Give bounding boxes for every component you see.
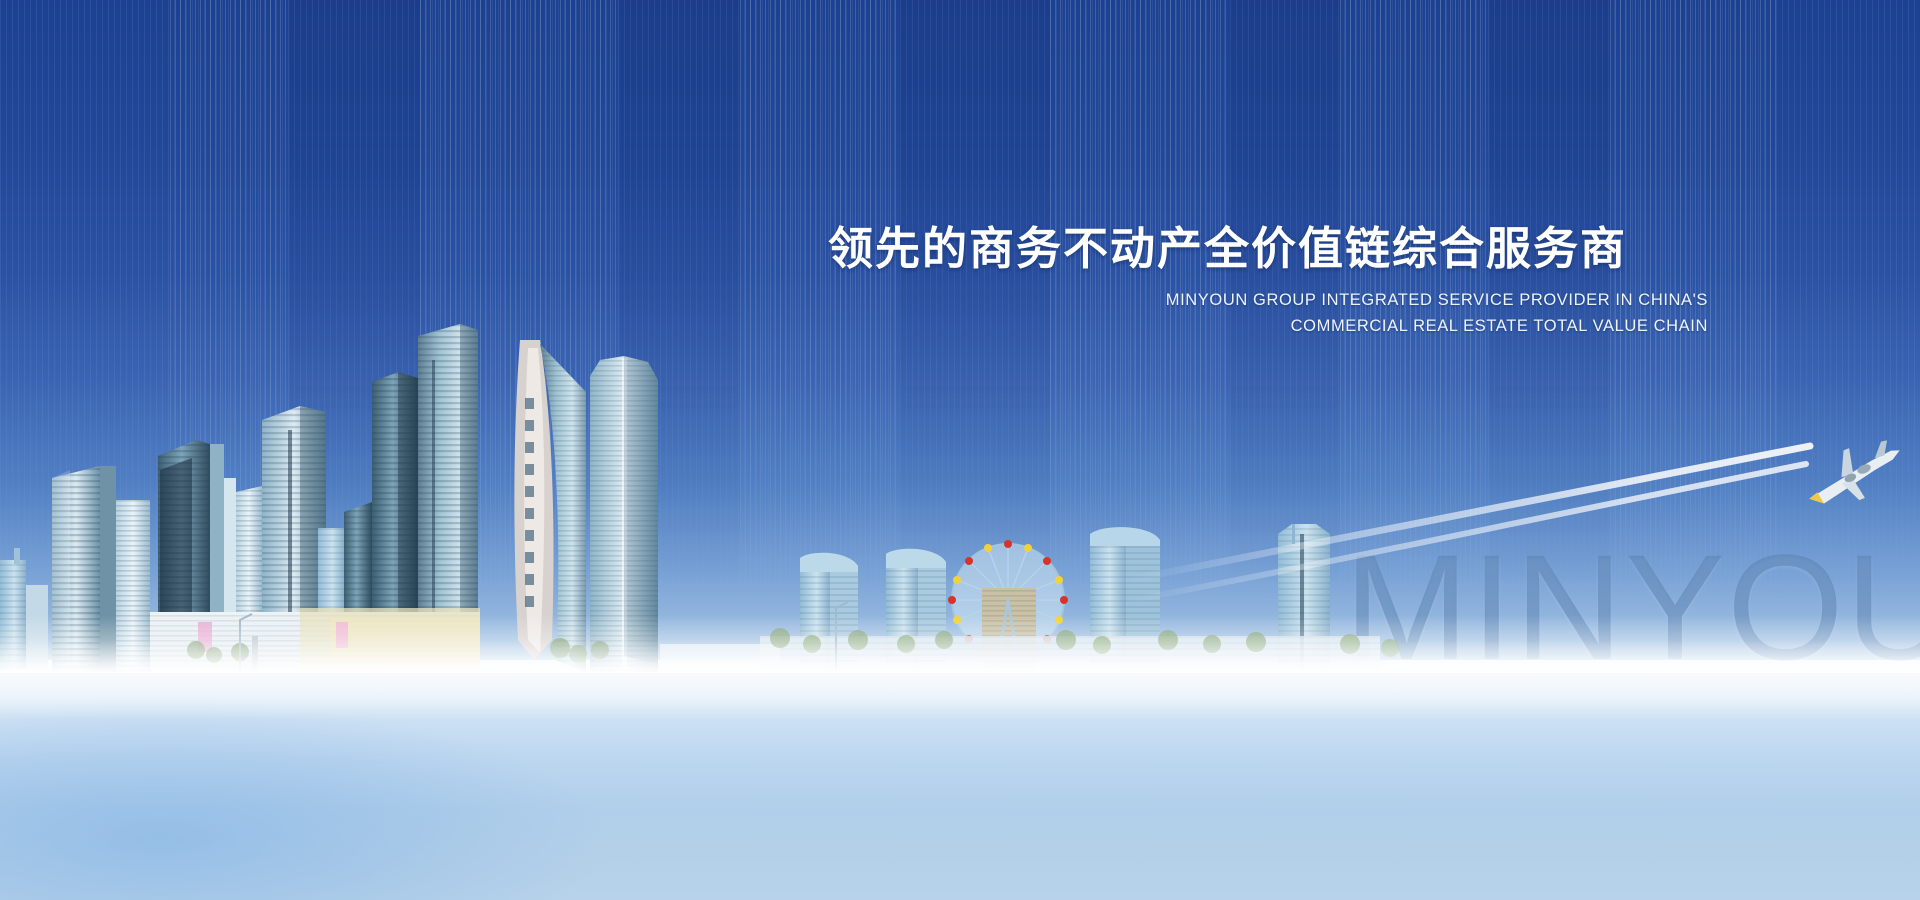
banner-hero: MINYOUN (0, 0, 1920, 900)
page-title: 领先的商务不动产全价值链综合服务商 (828, 212, 1708, 277)
subtitle-line-2: COMMERCIAL REAL ESTATE TOTAL VALUE CHAIN (828, 313, 1708, 339)
contrail (1120, 430, 1860, 630)
subtitle-line-1: MINYOUN GROUP INTEGRATED SERVICE PROVIDE… (828, 287, 1708, 313)
page-subtitle: MINYOUN GROUP INTEGRATED SERVICE PROVIDE… (828, 287, 1708, 339)
horizon-haze (0, 640, 1920, 720)
